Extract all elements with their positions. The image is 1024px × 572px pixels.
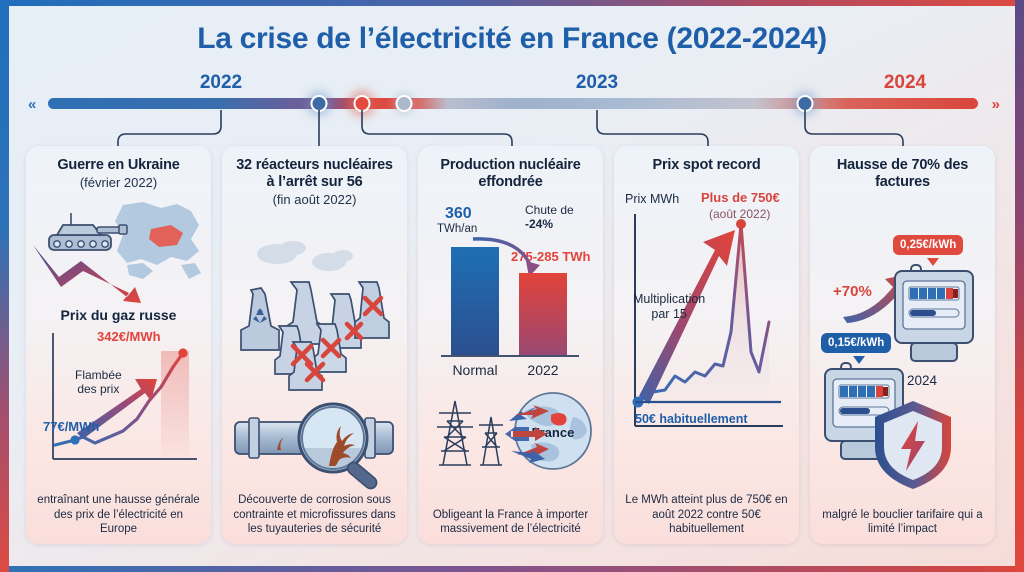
frame-right-border (1015, 0, 1024, 572)
timeline-year-2024: 2024 (884, 72, 926, 94)
gas-price-high-label: 342€/MWh (97, 329, 161, 344)
bar-drop-line1: Chute de (525, 203, 574, 217)
magnifying-glass-corroded-pipe-icon (229, 396, 401, 504)
tank-over-europe-map-icon (31, 199, 206, 305)
panel-1-caption: entraînant une hausse générale des prix … (35, 493, 202, 536)
panel-5-body: 0,25€/kWh +70% (819, 191, 986, 508)
gas-price-line-chart (37, 327, 202, 477)
panel-prix-spot-record[interactable]: Prix spot record Prix MWh Plus de 750€ (… (614, 146, 799, 544)
spot-annotation-line1: Multiplication (633, 292, 705, 307)
spot-baseline-value: 50€ habituellement (635, 412, 748, 426)
panel-production-nucleaire[interactable]: Production nucléaire effondrée 360 TWh/a… (418, 146, 603, 544)
svg-text:Normal: Normal (452, 362, 497, 378)
timeline-year-2022: 2022 (200, 72, 242, 94)
gas-price-annotation: Flambée des prix (75, 369, 122, 397)
panel-2-body (231, 208, 398, 493)
panel-4-caption: Le MWh atteint plus de 750€ en août 2022… (623, 493, 790, 536)
panel-5-caption: malgré le bouclier tarifaire qui a limit… (819, 508, 986, 537)
panel-3-body: 360 TWh/an Chute de -24% 275-285 TWh (427, 191, 594, 508)
bar-drop-annotation: Chute de -24% (525, 203, 574, 232)
electricity-meter-icon (891, 263, 979, 369)
pylons-globe-france-icon: France (425, 387, 597, 477)
timeline-connectors (0, 104, 1024, 150)
gas-annotation-line1: Flambée (75, 369, 122, 383)
spot-axis-label: Prix MWh (625, 192, 679, 206)
gas-price-low-label: 77€/MWh (43, 419, 99, 434)
frame-left-border (0, 0, 9, 572)
panel-reacteurs-arret[interactable]: 32 réacteurs nucléaires à l’arrêt sur 56… (222, 146, 407, 544)
spot-baseline-label: 50€ habituellement (635, 412, 748, 426)
price-old-chip: 0,15€/kWh (821, 333, 891, 353)
cooling-towers-icon (231, 238, 398, 406)
gas-annotation-line2: des prix (75, 383, 122, 397)
panel-3-title: Production nucléaire effondrée (427, 157, 594, 191)
shield-lightning-icon (871, 399, 955, 491)
infographic-canvas: La crise de l’électricité en France (202… (0, 0, 1024, 572)
panel-1-mid-title: Prix du gaz russe (35, 307, 202, 323)
panel-3-caption: Obligeant la France à importer massiveme… (427, 508, 594, 537)
bar-value-normal: 360 (445, 205, 472, 223)
svg-text:2022: 2022 (527, 362, 558, 378)
bar-unit-label: TWh/an (437, 223, 477, 235)
panel-guerre-ukraine[interactable]: Guerre en Ukraine (février 2022) (26, 146, 211, 544)
panel-1-body: Prix du gaz russe (35, 191, 202, 493)
timeline-year-2023: 2023 (576, 72, 618, 94)
panel-2-subtitle: (fin août 2022) (231, 193, 398, 208)
panel-4-body: Prix MWh Plus de 750€ (août 2022) (623, 174, 790, 493)
price-new-chip: 0,25€/kWh (893, 235, 963, 255)
panel-2-title: 32 réacteurs nucléaires à l’arrêt sur 56 (231, 157, 398, 191)
panel-1-subtitle: (février 2022) (35, 176, 202, 191)
spot-annotation-line2: par 15 (633, 307, 705, 322)
frame-bottom-border (0, 566, 1024, 572)
panel-5-title: Hausse de 70% des factures (819, 157, 986, 191)
panel-4-title: Prix spot record (623, 157, 790, 174)
nuclear-production-bar-chart: Normal 2022 (427, 235, 594, 381)
meter-year-label: 2024 (907, 373, 937, 388)
panel-hausse-factures[interactable]: Hausse de 70% des factures 0,25€/kWh +70… (810, 146, 995, 544)
panel-1-title: Guerre en Ukraine (35, 157, 202, 174)
bar-drop-line2: -24% (525, 217, 574, 231)
page-title: La crise de l’électricité en France (202… (0, 22, 1024, 56)
frame-top-border (0, 0, 1024, 6)
spot-peak-label: Plus de 750€ (701, 190, 780, 205)
spot-annotation: Multiplication par 15 (633, 292, 705, 322)
